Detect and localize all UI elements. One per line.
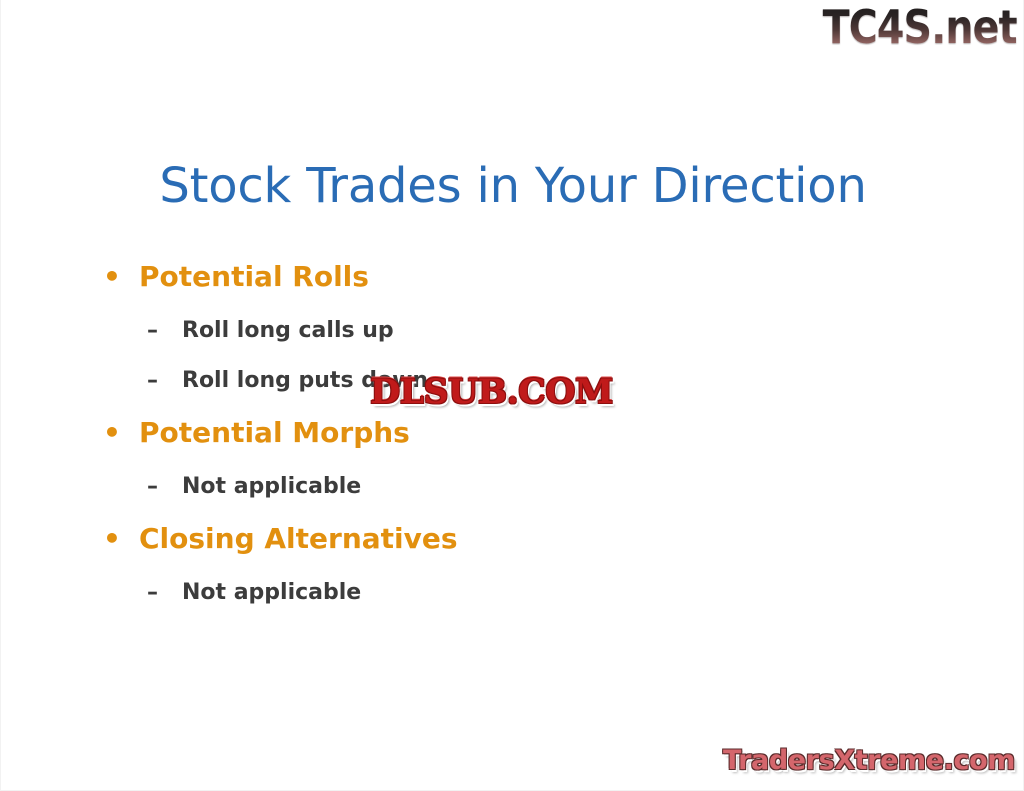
dash-marker-icon: – bbox=[147, 358, 173, 404]
list-item-label: Closing Alternatives bbox=[139, 522, 458, 555]
dash-marker-icon: – bbox=[147, 464, 173, 510]
tradersxtreme-brand-logo: TradersXtreme.com bbox=[723, 744, 1015, 778]
list-item-label: Not applicable bbox=[182, 580, 361, 605]
page-title: Stock Trades in Your Direction bbox=[1, 158, 1024, 214]
bullet-marker-icon: • bbox=[103, 252, 121, 302]
list-item-label: Potential Morphs bbox=[139, 416, 410, 449]
list-item: – Not applicable bbox=[97, 464, 937, 510]
tc4s-brand-logo: TC4S.net bbox=[823, 0, 1017, 54]
list-item-label: Not applicable bbox=[182, 474, 361, 499]
bullet-list: • Potential Rolls – Roll long calls up –… bbox=[97, 252, 937, 620]
presentation-slide: TC4S.net Stock Trades in Your Direction … bbox=[0, 0, 1024, 791]
dash-marker-icon: – bbox=[147, 570, 173, 616]
dash-marker-icon: – bbox=[147, 308, 173, 354]
list-item: – Roll long calls up bbox=[97, 308, 937, 354]
dlsub-watermark: DLSUB.COM bbox=[366, 371, 617, 413]
list-item-label: Potential Rolls bbox=[139, 260, 369, 293]
list-item: • Potential Rolls bbox=[97, 252, 937, 302]
list-item-label: Roll long calls up bbox=[182, 318, 394, 343]
list-item: • Closing Alternatives bbox=[97, 514, 937, 564]
bullet-marker-icon: • bbox=[103, 514, 121, 564]
list-item: • Potential Morphs bbox=[97, 408, 937, 458]
list-item: – Not applicable bbox=[97, 570, 937, 616]
bullet-marker-icon: • bbox=[103, 408, 121, 458]
